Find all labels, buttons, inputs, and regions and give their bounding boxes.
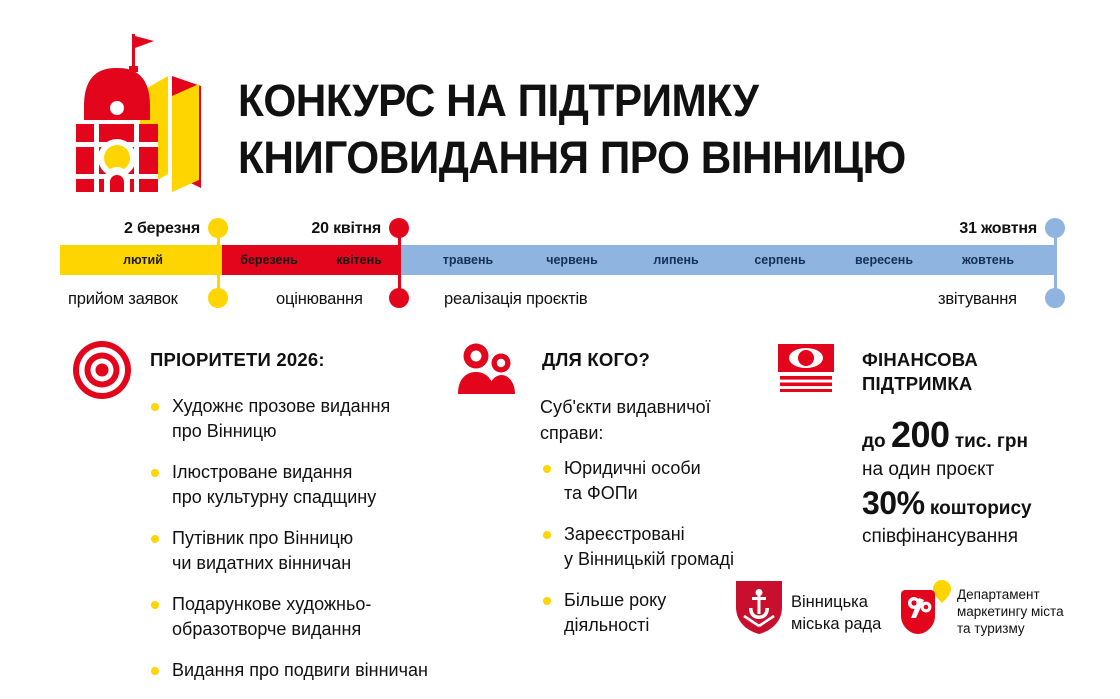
priorities-title: ПРІОРИТЕТИ 2026: [150,348,325,372]
page-title: КОНКУРС НА ПІДТРИМКУ КНИГОВИДАННЯ ПРО ВІ… [238,72,1108,186]
timeline-month-veresen: вересень [834,245,934,275]
timeline-month-zhovten: жовтень [938,245,1038,275]
timeline-month-serpen: серпень [730,245,830,275]
finance-share-value: 30% [862,485,925,521]
list-item: Видання про подвиги вінничан [146,658,466,683]
finance-amount-prefix: до [862,431,886,452]
finance-amount-note: на один проєкт [862,457,1028,483]
list-item: Юридичні особи та ФОПи [538,456,768,506]
finance-amount-value: 200 [891,414,950,455]
title-line-2: КНИГОВИДАННЯ ПРО ВІННИЦЮ [238,129,1056,186]
audience-title: ДЛЯ КОГО? [542,348,650,372]
timeline-month-kviten: квітень [316,245,402,275]
list-item: Художнє прозове видання про Вінницю [146,394,466,444]
timeline: лютий березень квітень травень червень л… [0,205,1120,323]
timeline-date-2: 20 квітня [171,220,381,238]
timeline-dot-bottom-3 [1045,288,1065,308]
finance-amount-unit: тис. грн [955,431,1028,452]
vn-pin-logo [895,578,953,636]
header: КОНКУРС НА ПІДТРИМКУ КНИГОВИДАННЯ ПРО ВІ… [0,0,1120,200]
timeline-date-1: 2 березня [0,220,200,238]
timeline-dot-bottom-1 [208,288,228,308]
audience-list: Юридичні особи та ФОПи Зареєстровані у В… [538,456,768,654]
timeline-dot-top-3 [1045,218,1065,238]
timeline-date-3: 31 жовтня [827,220,1037,238]
finance-share: 30% кошторису співфінансування [862,490,1032,550]
timeline-segment-yellow: лютий [60,245,226,275]
timeline-stage-1: прийом заявок [68,290,178,309]
timeline-dot-bottom-2 [389,288,409,308]
list-item: Путівник про Вінницю чи видатних віннича… [146,526,466,576]
timeline-month-berezen: березень [224,245,314,275]
timeline-segment-red: березень квітень [222,245,404,275]
dept-logo-label: Департамент маркетингу міста та туризму [957,586,1064,637]
list-item: Подарункове художньо- образотворче видан… [146,592,466,642]
footer-logos: Вінницька міська рада Департамент маркет… [735,578,1075,644]
timeline-month-lyutyi: лютий [60,245,226,275]
timeline-stage-4: звітування [938,290,1017,309]
priorities-list: Художнє прозове видання про Вінницю Ілюс… [146,394,466,699]
timeline-month-cherven: червень [522,245,622,275]
finance-amount: до 200 тис. грн на один проєкт [862,422,1028,483]
finance-share-label: кошторису [930,498,1032,519]
vinnytsia-coat-of-arms [735,580,783,635]
banknote-icon [778,344,840,392]
list-item: Зареєстровані у Вінницькій громаді [538,522,768,572]
timeline-stage-3: реалізація проєктів [444,290,588,309]
city-logo-label: Вінницька міська рада [791,591,881,635]
people-icon [458,342,518,394]
timeline-month-traven: травень [418,245,518,275]
finance-title: ФІНАНСОВА ПІДТРИМКА [862,348,978,396]
target-icon [72,340,132,400]
audience-subtitle: Суб'єкти видавничої справи: [540,394,755,446]
timeline-segment-blue: травень червень липень серпень вересень … [400,245,1056,275]
title-line-1: КОНКУРС НА ПІДТРИМКУ [238,72,1056,129]
timeline-stage-2: оцінювання [276,290,363,309]
list-item: Більше року діяльності [538,588,768,638]
timeline-dot-top-2 [389,218,409,238]
list-item: Ілюстроване видання про культурну спадщи… [146,460,466,510]
finance-share-note: співфінансування [862,524,1032,550]
timeline-month-lypen: липень [626,245,726,275]
vinnytsia-tower-book-logo [68,28,203,196]
